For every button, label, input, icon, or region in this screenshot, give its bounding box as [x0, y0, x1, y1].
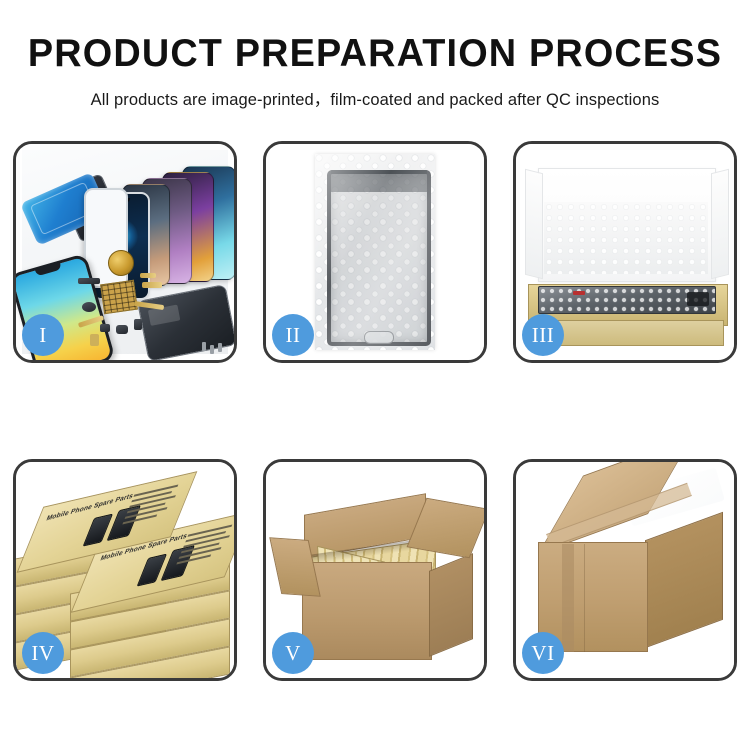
step-badge-2: II — [272, 314, 314, 356]
step-badge-1: I — [22, 314, 64, 356]
page-subtitle: All products are image-printed，film-coat… — [0, 86, 750, 110]
process-step-grid: I II III — [13, 141, 737, 681]
step-badge-3: III — [522, 314, 564, 356]
process-step-panel-6[interactable]: VI — [513, 459, 737, 681]
process-step-panel-2[interactable]: II — [263, 141, 487, 363]
step-badge-4: IV — [22, 632, 64, 674]
process-step-panel-1[interactable]: I — [13, 141, 237, 363]
process-step-panel-5[interactable]: V — [263, 459, 487, 681]
page-header: PRODUCT PREPARATION PROCESS All products… — [0, 0, 750, 110]
step-badge-5: V — [272, 632, 314, 674]
page-title: PRODUCT PREPARATION PROCESS — [11, 34, 739, 73]
step-badge-6: VI — [522, 632, 564, 674]
process-step-panel-4[interactable]: Mobile Phone Spare Parts Mobile Phone Sp… — [13, 459, 237, 681]
process-step-panel-3[interactable]: III — [513, 141, 737, 363]
